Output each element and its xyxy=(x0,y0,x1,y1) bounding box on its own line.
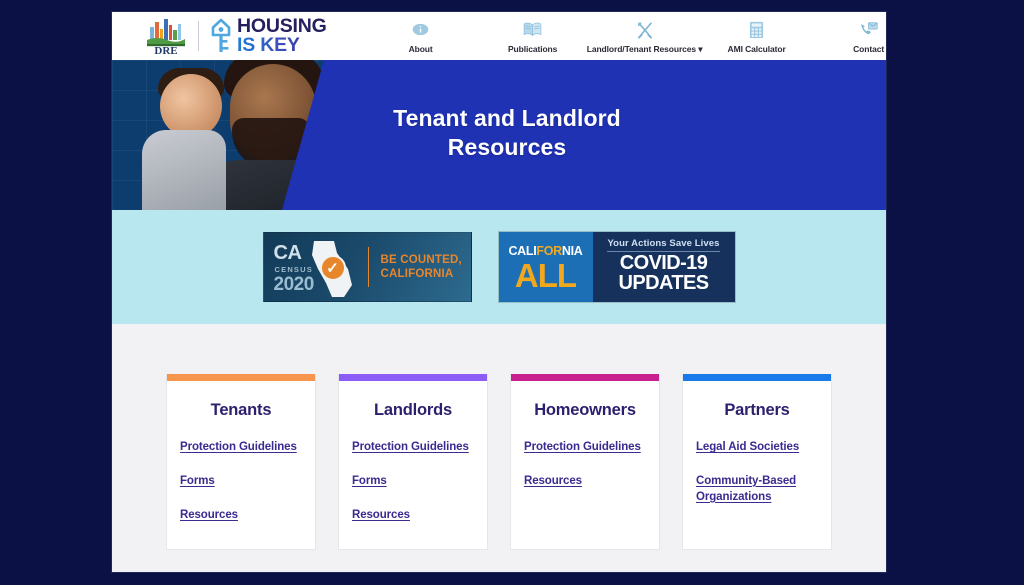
card-link[interactable]: Protection Guidelines xyxy=(352,440,474,456)
california-all-logo: CALIFORNIA ALL xyxy=(499,232,593,302)
svg-text:DRE: DRE xyxy=(154,45,177,55)
card-landlords: Landlords Protection Guidelines Forms Re… xyxy=(338,374,488,550)
covid-title: COVID-19 UPDATES xyxy=(619,254,709,293)
nav-label: Publications xyxy=(508,44,557,54)
card-accent-bar xyxy=(339,374,487,381)
calculator-icon xyxy=(749,20,764,39)
census-year: 2020 xyxy=(274,275,314,294)
card-accent-bar xyxy=(511,374,659,381)
covid-title-line-2: UPDATES xyxy=(619,272,709,294)
browser-viewport: DRE HOUSING IS KEY xyxy=(0,0,1024,585)
card-homeowners: Homeowners Protection Guidelines Resourc… xyxy=(510,374,660,550)
nav-label: AMI Calculator xyxy=(728,44,786,54)
card-partners: Partners Legal Aid Societies Community-B… xyxy=(682,374,832,550)
census-ca-text: CA xyxy=(274,243,302,263)
brand-line-2: IS KEY xyxy=(237,36,327,55)
nav-item-about[interactable]: About xyxy=(365,20,477,54)
hero-title-line-1: Tenant and Landlord xyxy=(393,105,621,131)
census-2020-banner[interactable]: CA CENSUS 2020 ✓ BE COUNTED, CALIFORNIA xyxy=(263,232,472,302)
census-logo-block: CA CENSUS 2020 ✓ xyxy=(264,233,368,301)
census-tagline-line-2: CALIFORNIA xyxy=(381,268,454,280)
cal-part-1: CALI xyxy=(508,244,536,258)
card-title: Landlords xyxy=(339,401,487,420)
california-wordmark: CALIFORNIA xyxy=(508,245,582,258)
card-link[interactable]: Community-Based Organizations xyxy=(696,474,818,506)
site-header: DRE HOUSING IS KEY xyxy=(112,12,886,60)
card-link[interactable]: Resources xyxy=(180,508,302,524)
covid-19-updates-banner[interactable]: CALIFORNIA ALL Your Actions Save Lives C… xyxy=(498,231,736,303)
card-title: Partners xyxy=(683,401,831,420)
resource-cards: Tenants Protection Guidelines Forms Reso… xyxy=(112,374,886,550)
house-key-icon xyxy=(210,18,232,54)
brand-lockup[interactable]: DRE HOUSING IS KEY xyxy=(145,17,327,55)
resource-cards-section: Tenants Protection Guidelines Forms Reso… xyxy=(112,324,886,572)
tools-cross-icon xyxy=(636,20,654,39)
main-navigation: About Publications xyxy=(365,17,886,55)
census-tagline: BE COUNTED, CALIFORNIA xyxy=(381,253,462,282)
cal-part-3: NIA xyxy=(562,244,583,258)
card-link[interactable]: Forms xyxy=(352,474,474,490)
card-link[interactable]: Protection Guidelines xyxy=(524,440,646,456)
card-title: Homeowners xyxy=(511,401,659,420)
hero-title: Tenant and Landlord Resources xyxy=(342,104,672,162)
all-wordmark: ALL xyxy=(515,260,576,291)
nav-item-ami-calculator[interactable]: AMI Calculator xyxy=(701,20,813,54)
census-word: CENSUS xyxy=(275,265,313,274)
open-book-icon xyxy=(523,20,542,39)
check-mark-icon: ✓ xyxy=(320,255,346,281)
card-links: Legal Aid Societies Community-Based Orga… xyxy=(683,440,831,506)
census-divider xyxy=(368,247,369,287)
hero-title-line-2: Resources xyxy=(448,134,567,160)
card-link[interactable]: Resources xyxy=(352,508,474,524)
census-tagline-line-1: BE COUNTED, xyxy=(381,254,462,266)
card-link[interactable]: Forms xyxy=(180,474,302,490)
card-accent-bar xyxy=(167,374,315,381)
nav-item-contact[interactable]: Contact xyxy=(813,20,886,54)
cal-part-2: FOR xyxy=(536,244,562,258)
brand-divider xyxy=(198,21,199,51)
card-links: Protection Guidelines Forms Resources xyxy=(167,440,315,524)
card-title: Tenants xyxy=(167,401,315,420)
page-root: DRE HOUSING IS KEY xyxy=(112,12,886,572)
nav-label: Contact xyxy=(853,44,884,54)
phone-envelope-icon xyxy=(859,20,878,39)
nav-label: Landlord/Tenant Resources ▾ xyxy=(587,44,703,55)
card-links: Protection Guidelines Resources xyxy=(511,440,659,490)
info-circle-icon xyxy=(412,20,429,39)
card-link[interactable]: Protection Guidelines xyxy=(180,440,302,456)
nav-item-publications[interactable]: Publications xyxy=(477,20,589,54)
brand-wordmark: HOUSING IS KEY xyxy=(237,17,327,55)
card-link[interactable]: Resources xyxy=(524,474,646,490)
card-links: Protection Guidelines Forms Resources xyxy=(339,440,487,524)
promo-banner-strip: CA CENSUS 2020 ✓ BE COUNTED, CALIFORNIA … xyxy=(112,210,886,324)
nav-item-landlord-tenant-resources[interactable]: Landlord/Tenant Resources ▾ xyxy=(589,20,701,55)
nav-label: About xyxy=(409,44,433,54)
covid-subtitle: Your Actions Save Lives xyxy=(607,238,719,252)
card-accent-bar xyxy=(683,374,831,381)
hero-banner: Tenant and Landlord Resources xyxy=(112,60,886,210)
card-link[interactable]: Legal Aid Societies xyxy=(696,440,818,456)
card-tenants: Tenants Protection Guidelines Forms Reso… xyxy=(166,374,316,550)
covid-message-block: Your Actions Save Lives COVID-19 UPDATES xyxy=(593,232,735,302)
dre-skyline-logo: DRE xyxy=(145,17,187,55)
